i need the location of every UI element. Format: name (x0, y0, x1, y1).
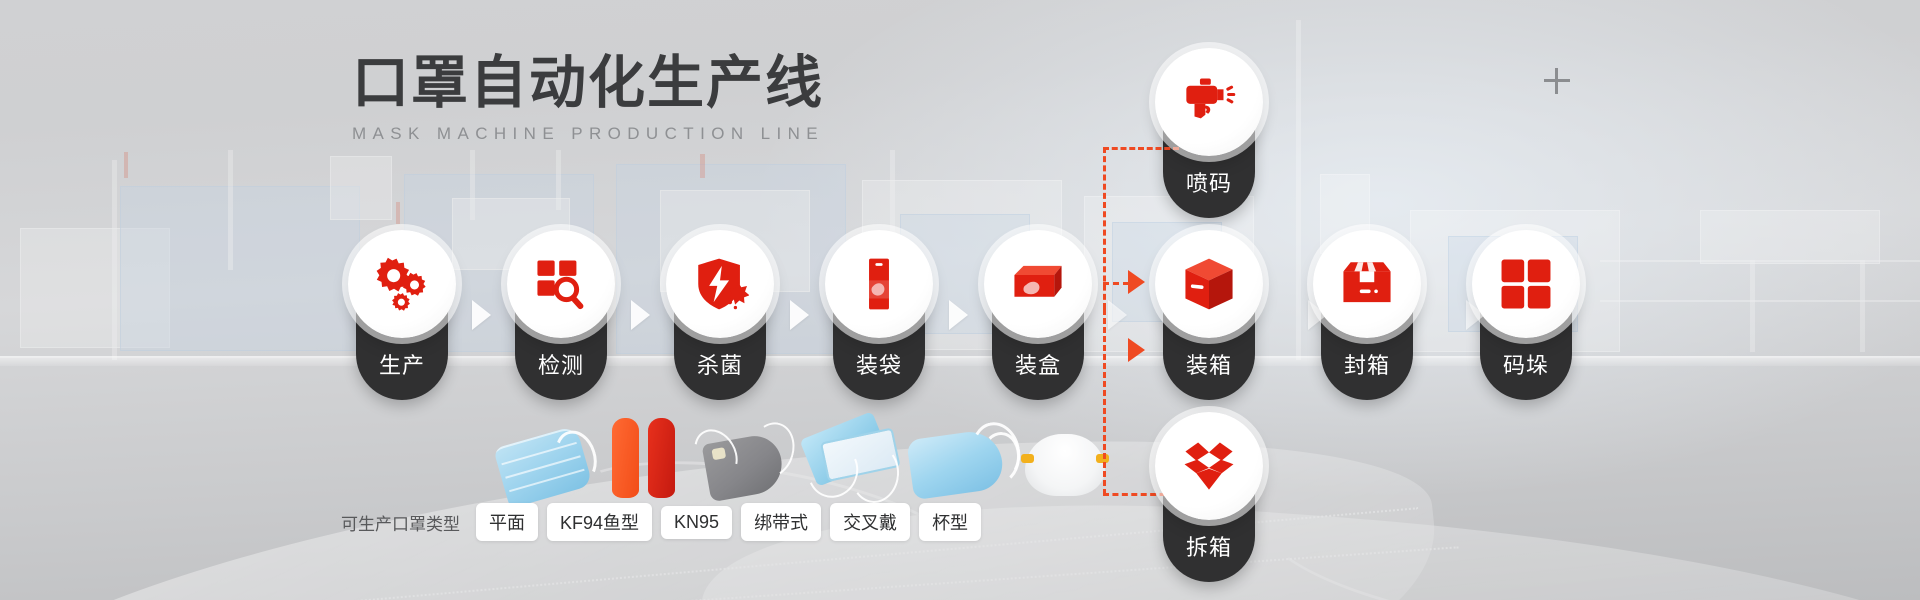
node-icon-bubble (984, 230, 1092, 338)
boxing-carton-icon (1009, 255, 1067, 313)
node-icon-bubble (1313, 230, 1421, 338)
mask-type-tag-cross[interactable]: 交叉戴 (830, 503, 910, 541)
mask-types-label: 可生产口罩类型 (341, 510, 460, 535)
open-box-icon (1180, 437, 1238, 495)
mask-type-tag-kn95[interactable]: KN95 (661, 506, 732, 539)
flow-arrow-1 (472, 300, 491, 330)
carton-cube-icon (1180, 255, 1238, 313)
cup-white-mask (1022, 432, 1108, 498)
inspection-magnifier-icon (532, 255, 590, 313)
branch-line-lower-vertical (1103, 309, 1106, 495)
page-title: 口罩自动化生产线 (352, 52, 824, 116)
node-label: 封箱 (1321, 348, 1413, 380)
node-icon-bubble (1155, 412, 1263, 520)
node-icon-bubble (348, 230, 456, 338)
node-icon-bubble (1472, 230, 1580, 338)
branch-line-mid-horizontal (1103, 282, 1129, 285)
plus-icon (1544, 68, 1570, 94)
kf94-fish-mask-pair (612, 416, 682, 498)
page-subtitle: MASK MACHINE PRODUCTION LINE (352, 124, 824, 144)
node-label: 装盒 (992, 348, 1084, 380)
cross-strap-blue-mask (910, 426, 1018, 498)
flow-arrow-4 (949, 300, 968, 330)
node-label: 检测 (515, 348, 607, 380)
factory-machinery-silhouette (0, 150, 1920, 410)
node-icon-bubble (507, 230, 615, 338)
flat-blue-mask (500, 436, 586, 498)
bagging-pouch-icon (850, 255, 908, 313)
background-dotted-arc-gray (0, 0, 1920, 200)
mask-type-tag-cup[interactable]: 杯型 (919, 503, 981, 541)
gears-icon (373, 255, 431, 313)
mask-type-tag-kf94[interactable]: KF94鱼型 (547, 503, 652, 541)
node-icon-bubble (1155, 230, 1263, 338)
mask-production-line-banner: 口罩自动化生产线 MASK MACHINE PRODUCTION LINE 生产 (0, 0, 1920, 600)
node-label: 生产 (356, 348, 448, 380)
node-label: 拆箱 (1163, 530, 1255, 562)
palletize-grid-icon (1497, 255, 1555, 313)
background-swoosh-arc-2 (0, 0, 1920, 230)
conveyor-belt-line (0, 356, 1920, 366)
inkjet-spray-gun-icon (1180, 73, 1238, 131)
flow-arrow-5 (1108, 300, 1127, 330)
background-swoosh-arc-1 (0, 0, 1880, 200)
background-dotted-arc-light (0, 0, 1870, 160)
mask-product-gallery (500, 408, 1040, 498)
mask-type-tag-flat[interactable]: 平面 (476, 503, 538, 541)
banded-blue-mask (806, 420, 906, 498)
node-icon-bubble (666, 230, 774, 338)
banner-heading: 口罩自动化生产线 MASK MACHINE PRODUCTION LINE (352, 52, 824, 144)
sealed-box-icon (1338, 255, 1396, 313)
mask-type-tag-banded[interactable]: 绑带式 (741, 503, 821, 541)
flow-arrow-3 (790, 300, 809, 330)
node-label: 喷码 (1163, 166, 1255, 198)
flow-arrow-2 (631, 300, 650, 330)
shield-sterilize-icon (691, 255, 749, 313)
branch-arrow-to-unboxing (1128, 338, 1145, 362)
branch-line-top-horizontal (1103, 147, 1179, 150)
mask-types-row: 可生产口罩类型 平面 KF94鱼型 KN95 绑带式 交叉戴 杯型 (341, 503, 990, 541)
branch-arrow-to-spraying (1128, 270, 1145, 294)
kn95-gray-valve-mask (698, 426, 794, 498)
node-label: 杀菌 (674, 348, 766, 380)
node-icon-bubble (1155, 48, 1263, 156)
node-label: 装箱 (1163, 348, 1255, 380)
node-icon-bubble (825, 230, 933, 338)
node-label: 装袋 (833, 348, 925, 380)
node-label: 码垛 (1480, 348, 1572, 380)
